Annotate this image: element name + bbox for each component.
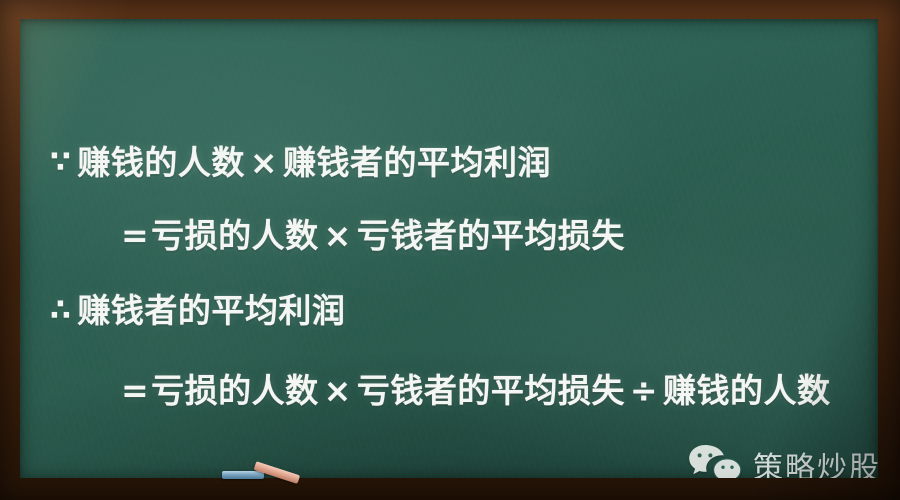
multiply-operator-icon: × — [245, 143, 283, 182]
equation-line-3: ∴赚钱者的平均利润 — [50, 284, 345, 332]
therefore-symbol-icon: ∴ — [50, 293, 71, 328]
because-symbol-icon: ∵ — [50, 145, 71, 180]
watermark: 策略炒股通 — [688, 443, 878, 478]
equals-operator-icon: = — [121, 371, 151, 410]
equation-line-4: =亏损的人数×亏钱者的平均损失÷赚钱的人数 — [121, 364, 830, 412]
equation-term: 赚钱者的平均利润 — [77, 291, 345, 330]
equation-term: 亏损的人数 — [151, 216, 319, 255]
blackboard-frame: ∵赚钱的人数×赚钱者的平均利润 =亏损的人数×亏钱者的平均损失 ∴赚钱者的平均利… — [0, 0, 900, 500]
blackboard-surface: ∵赚钱的人数×赚钱者的平均利润 =亏损的人数×亏钱者的平均损失 ∴赚钱者的平均利… — [20, 19, 878, 478]
watermark-text: 策略炒股通 — [753, 443, 878, 478]
equation-term: 赚钱的人数 — [77, 143, 245, 182]
equation-line-2: =亏损的人数×亏钱者的平均损失 — [121, 209, 625, 257]
equals-operator-icon: = — [121, 216, 151, 255]
equation-term: 赚钱者的平均利润 — [283, 143, 551, 182]
wechat-icon — [688, 443, 742, 478]
equation-term: 赚钱的人数 — [663, 371, 831, 410]
equation-term: 亏损的人数 — [151, 371, 319, 410]
equation-line-1: ∵赚钱的人数×赚钱者的平均利润 — [50, 136, 551, 184]
equation-term: 亏钱者的平均损失 — [357, 216, 625, 255]
multiply-operator-icon: × — [319, 216, 357, 255]
blue-chalk — [222, 471, 264, 479]
multiply-operator-icon: × — [319, 371, 357, 410]
equation-term: 亏钱者的平均损失 — [357, 371, 625, 410]
equation-list: ∵赚钱的人数×赚钱者的平均利润 =亏损的人数×亏钱者的平均损失 ∴赚钱者的平均利… — [20, 19, 878, 478]
divide-operator-icon: ÷ — [625, 371, 663, 410]
